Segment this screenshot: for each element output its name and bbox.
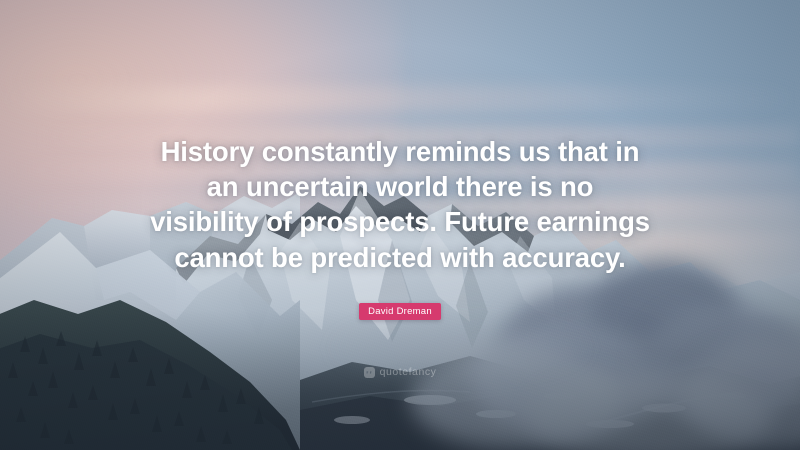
quote-line-4: cannot be predicted with accuracy. <box>0 240 800 275</box>
quote-mark-badge-icon <box>364 367 375 378</box>
quote-line-1: History constantly reminds us that in <box>0 134 800 169</box>
quote-line-3: visibility of prospects. Future earnings <box>0 204 800 239</box>
quote-line-2: an uncertain world there is no <box>0 169 800 204</box>
quote-wallpaper: History constantly reminds us that in an… <box>0 0 800 450</box>
author-badge-wrapper: David Dreman <box>0 301 800 320</box>
author-name-badge[interactable]: David Dreman <box>359 303 441 320</box>
quote-text: History constantly reminds us that in an… <box>0 134 800 275</box>
watermark[interactable]: quotefancy <box>0 366 800 378</box>
watermark-brand: quotefancy <box>380 366 437 378</box>
